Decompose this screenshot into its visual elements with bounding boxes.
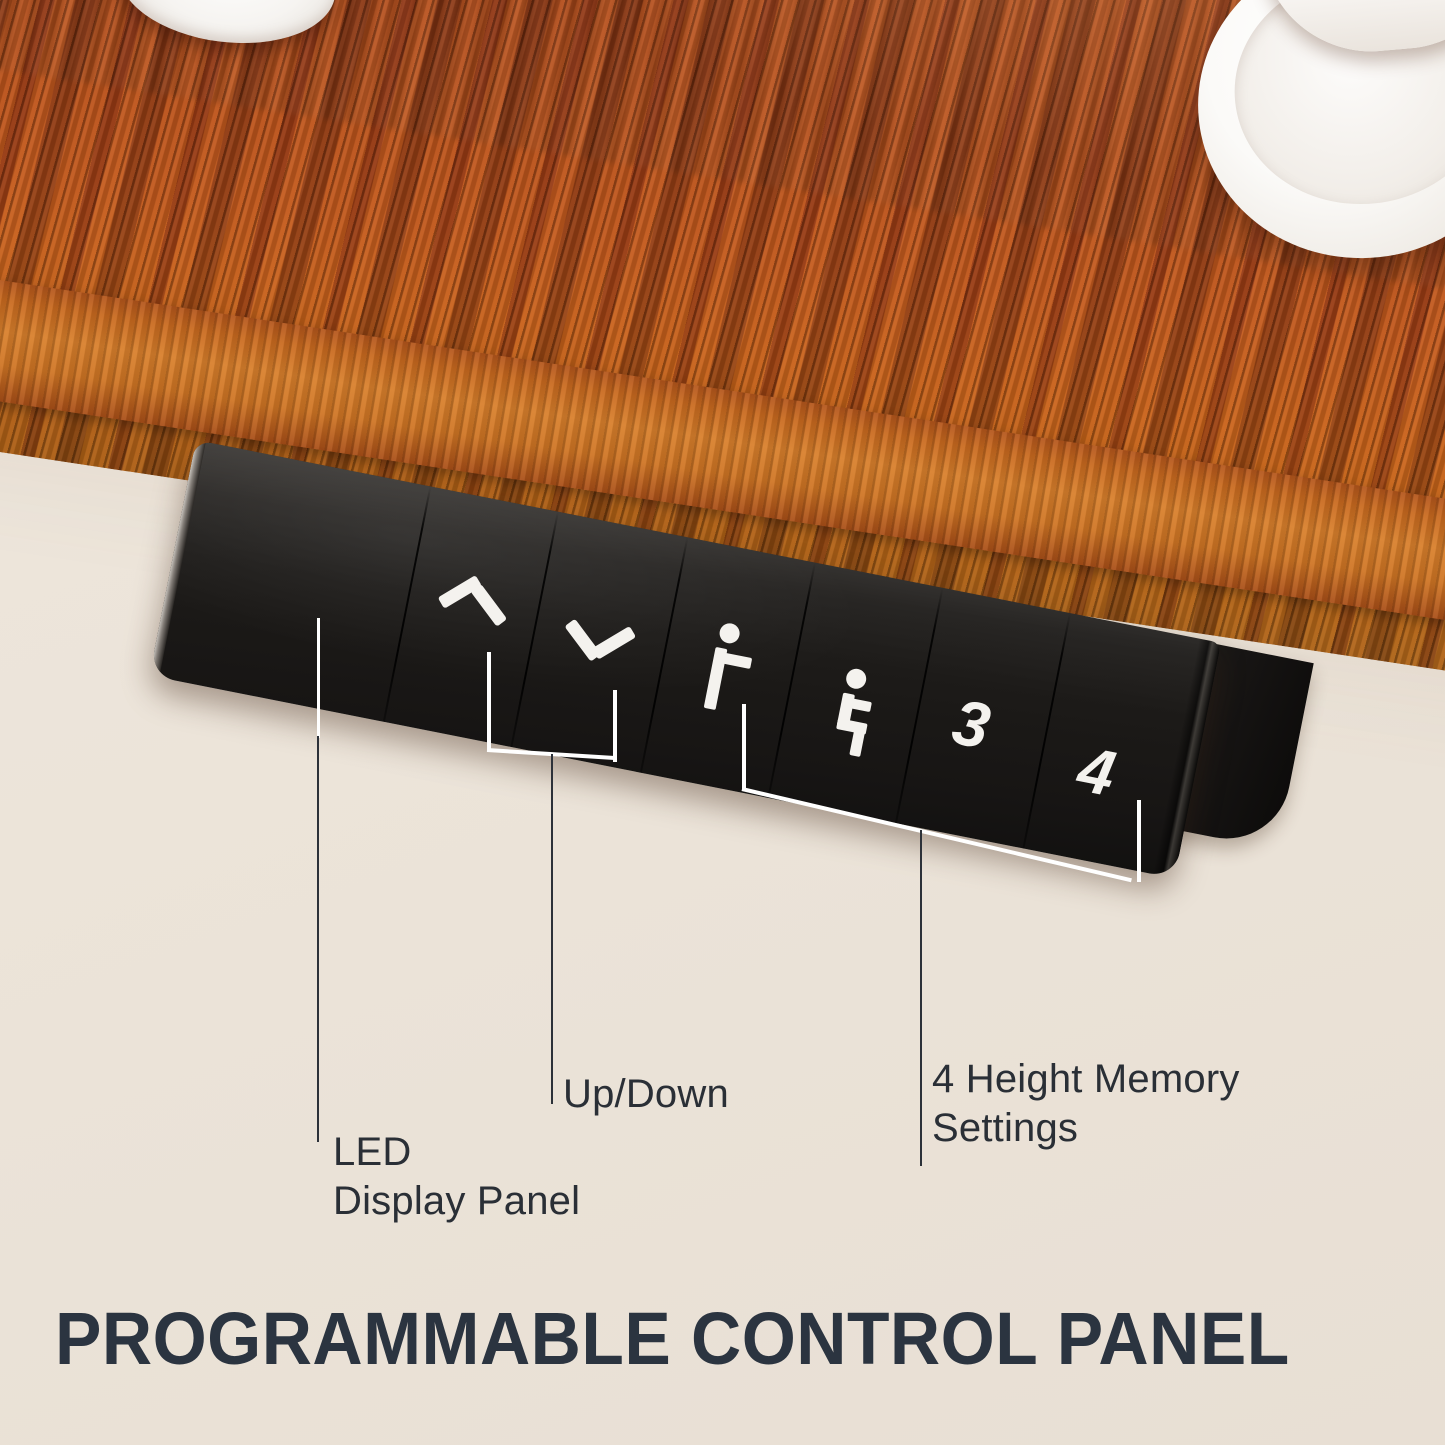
sitting-person-icon-head — [844, 667, 868, 691]
callout-updown-label: Up/Down — [563, 1070, 729, 1119]
leader-memory-drop — [920, 830, 922, 1166]
callout-memory-label: 4 Height Memory Settings — [932, 1055, 1240, 1153]
leader-memory-right-stem — [1137, 800, 1141, 882]
leader-up-stem — [487, 652, 491, 752]
led-display-panel[interactable] — [170, 453, 422, 688]
page-title: PROGRAMMABLE CONTROL PANEL — [55, 1296, 1290, 1381]
control-panel-assembly: 3 4 — [196, 440, 1266, 910]
leader-led-white — [317, 618, 320, 738]
control-panel[interactable]: 3 4 — [149, 440, 1221, 878]
leader-updown-drop — [551, 754, 553, 1104]
chevron-up-icon-right — [470, 584, 507, 627]
leader-down-stem — [613, 690, 617, 762]
callout-led-label: LED Display Panel — [333, 1128, 580, 1226]
leader-led-dark — [317, 736, 319, 1142]
standing-person-icon-head — [718, 622, 742, 646]
chevron-down-icon-right — [592, 626, 636, 660]
leader-memory-left-stem — [742, 704, 746, 790]
standing-person-icon-arm — [723, 653, 753, 669]
product-infographic: 3 4 LED Display Panel Up/Down 4 Height M… — [0, 0, 1445, 1445]
